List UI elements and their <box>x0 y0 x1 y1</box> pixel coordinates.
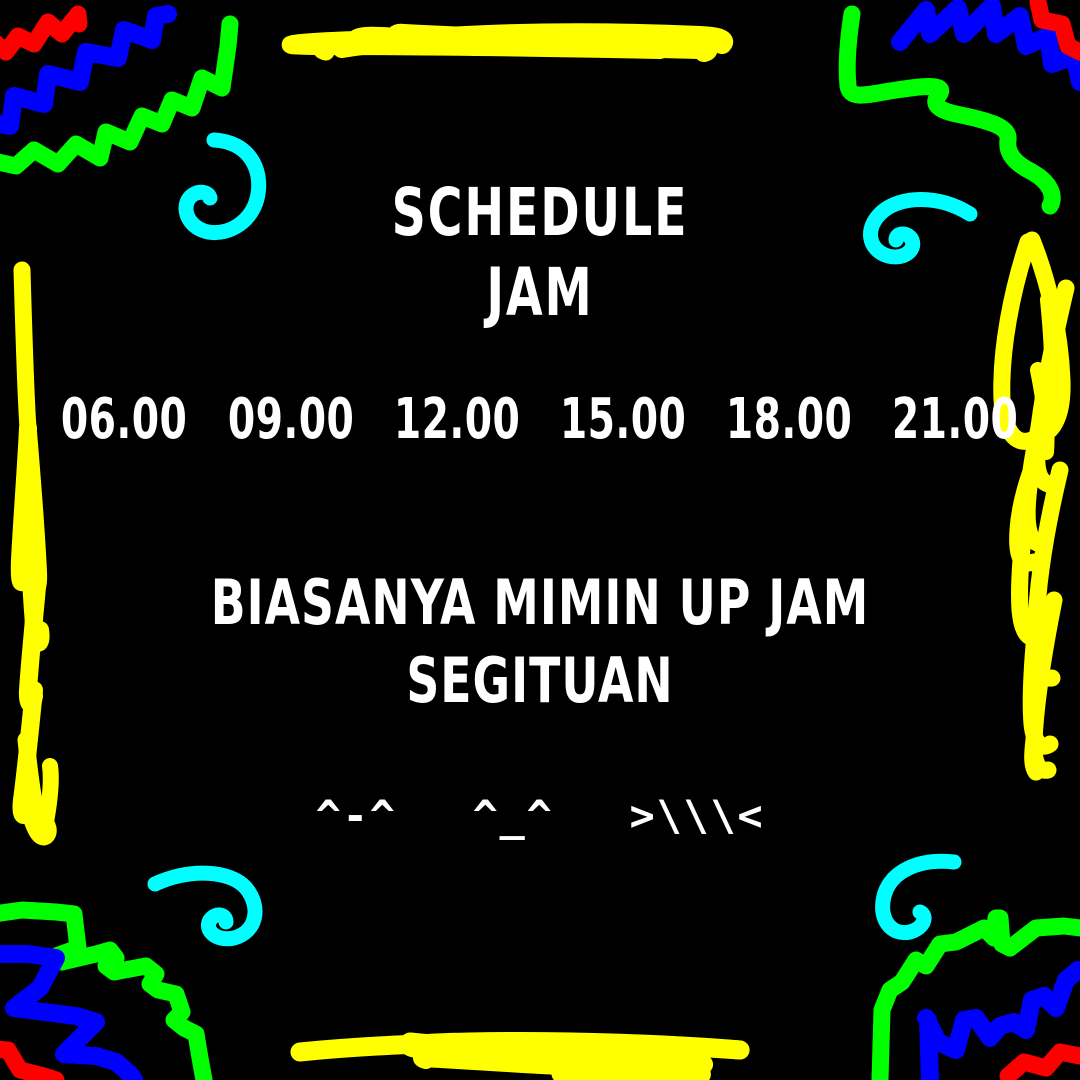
schedule-time-4: 18.00 <box>724 392 854 448</box>
schedule-poster: SCHEDULE JAM 06.00 09.00 12.00 15.00 18.… <box>0 0 1080 1080</box>
kaomoji-2: >\\\< <box>629 795 764 837</box>
kaomoji-row: ^-^ ^_^ >\\\< <box>0 795 1080 837</box>
kaomoji-0: ^-^ <box>316 795 397 837</box>
page-title-line-2: JAM <box>108 260 972 326</box>
kaomoji-1: ^_^ <box>473 795 554 837</box>
schedule-time-2: 12.00 <box>392 392 522 448</box>
page-title-line-1: SCHEDULE <box>108 180 972 246</box>
schedule-time-1: 09.00 <box>226 392 356 448</box>
schedule-times-row: 06.00 09.00 12.00 15.00 18.00 21.00 <box>0 392 1080 448</box>
schedule-time-3: 15.00 <box>558 392 688 448</box>
schedule-time-0: 06.00 <box>60 392 190 448</box>
message-line-2: SEGITUAN <box>97 650 983 712</box>
schedule-time-5: 21.00 <box>891 392 1021 448</box>
message-line-1: BIASANYA MIMIN UP JAM <box>97 572 983 634</box>
